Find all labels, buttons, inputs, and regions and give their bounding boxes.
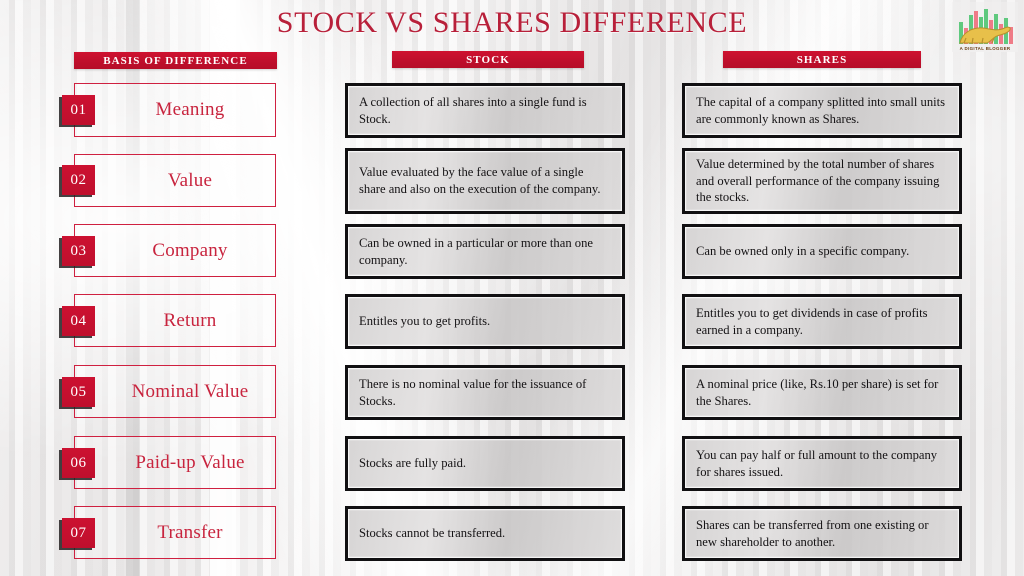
- basis-row: Value: [74, 154, 276, 207]
- shares-cell-text: You can pay half or full amount to the c…: [696, 447, 949, 480]
- stock-cell: Value evaluated by the face value of a s…: [345, 148, 625, 214]
- basis-label: Company: [105, 240, 275, 262]
- shares-cell: Shares can be transferred from one exist…: [682, 506, 962, 561]
- logo-caption: A DIGITAL BLOGGER: [952, 46, 1018, 51]
- stock-cell-text: Can be owned in a particular or more tha…: [359, 235, 612, 268]
- shares-cell: The capital of a company splitted into s…: [682, 83, 962, 138]
- row-number-badge: 04: [62, 306, 95, 336]
- shares-cell: A nominal price (like, Rs.10 per share) …: [682, 365, 962, 420]
- stock-cell-text: There is no nominal value for the issuan…: [359, 376, 612, 409]
- stock-cell-text: Value evaluated by the face value of a s…: [359, 164, 612, 197]
- basis-label: Paid-up Value: [105, 452, 275, 474]
- basis-row: Meaning: [74, 83, 276, 137]
- row-number-badge: 07: [62, 518, 95, 548]
- row-number-badge: 01: [62, 95, 95, 125]
- shares-cell: Entitles you to get dividends in case of…: [682, 294, 962, 349]
- basis-label: Value: [105, 170, 275, 192]
- column-header-basis: BASIS OF DIFFERENCE: [74, 52, 277, 69]
- basis-label: Nominal Value: [105, 381, 275, 403]
- basis-label: Transfer: [105, 522, 275, 544]
- basis-row: Return: [74, 294, 276, 347]
- basis-row: Nominal Value: [74, 365, 276, 418]
- stock-cell-text: A collection of all shares into a single…: [359, 94, 612, 127]
- basis-row: Transfer: [74, 506, 276, 559]
- basis-row: Company: [74, 224, 276, 277]
- background-ghost-number-left: [18, 520, 31, 568]
- basis-label: Meaning: [105, 99, 275, 121]
- stock-cell: Can be owned in a particular or more tha…: [345, 224, 625, 279]
- stock-cell: Stocks are fully paid.: [345, 436, 625, 491]
- row-number-badge: 05: [62, 377, 95, 407]
- shares-cell-text: The capital of a company splitted into s…: [696, 94, 949, 127]
- shares-cell: You can pay half or full amount to the c…: [682, 436, 962, 491]
- shares-cell-text: Shares can be transferred from one exist…: [696, 517, 949, 550]
- stock-cell: Stocks cannot be transferred.: [345, 506, 625, 561]
- stock-cell-text: Stocks are fully paid.: [359, 455, 466, 472]
- shares-cell-text: A nominal price (like, Rs.10 per share) …: [696, 376, 949, 409]
- shares-cell-text: Can be owned only in a specific company.: [696, 243, 909, 260]
- stock-cell-text: Stocks cannot be transferred.: [359, 525, 505, 542]
- bull-candlestick-icon: [952, 2, 1018, 52]
- page-title: STOCK VS SHARES DIFFERENCE: [0, 6, 1024, 40]
- row-number-badge: 06: [62, 448, 95, 478]
- shares-cell-text: Entitles you to get dividends in case of…: [696, 305, 949, 338]
- column-header-shares: SHARES: [723, 51, 921, 68]
- stock-cell: There is no nominal value for the issuan…: [345, 365, 625, 420]
- brand-logo: A DIGITAL BLOGGER: [952, 2, 1018, 52]
- shares-cell: Value determined by the total number of …: [682, 148, 962, 214]
- column-header-stock: STOCK: [392, 51, 584, 68]
- stock-cell: A collection of all shares into a single…: [345, 83, 625, 138]
- infographic-canvas: STOCK VS SHARES DIFFERENCE A DIGITAL B: [0, 0, 1024, 576]
- stock-cell: Entitles you to get profits.: [345, 294, 625, 349]
- row-number-badge: 02: [62, 165, 95, 195]
- row-number-badge: 03: [62, 236, 95, 266]
- stock-cell-text: Entitles you to get profits.: [359, 313, 490, 330]
- basis-row: Paid-up Value: [74, 436, 276, 489]
- shares-cell: Can be owned only in a specific company.: [682, 224, 962, 279]
- basis-label: Return: [105, 310, 275, 332]
- shares-cell-text: Value determined by the total number of …: [696, 156, 949, 206]
